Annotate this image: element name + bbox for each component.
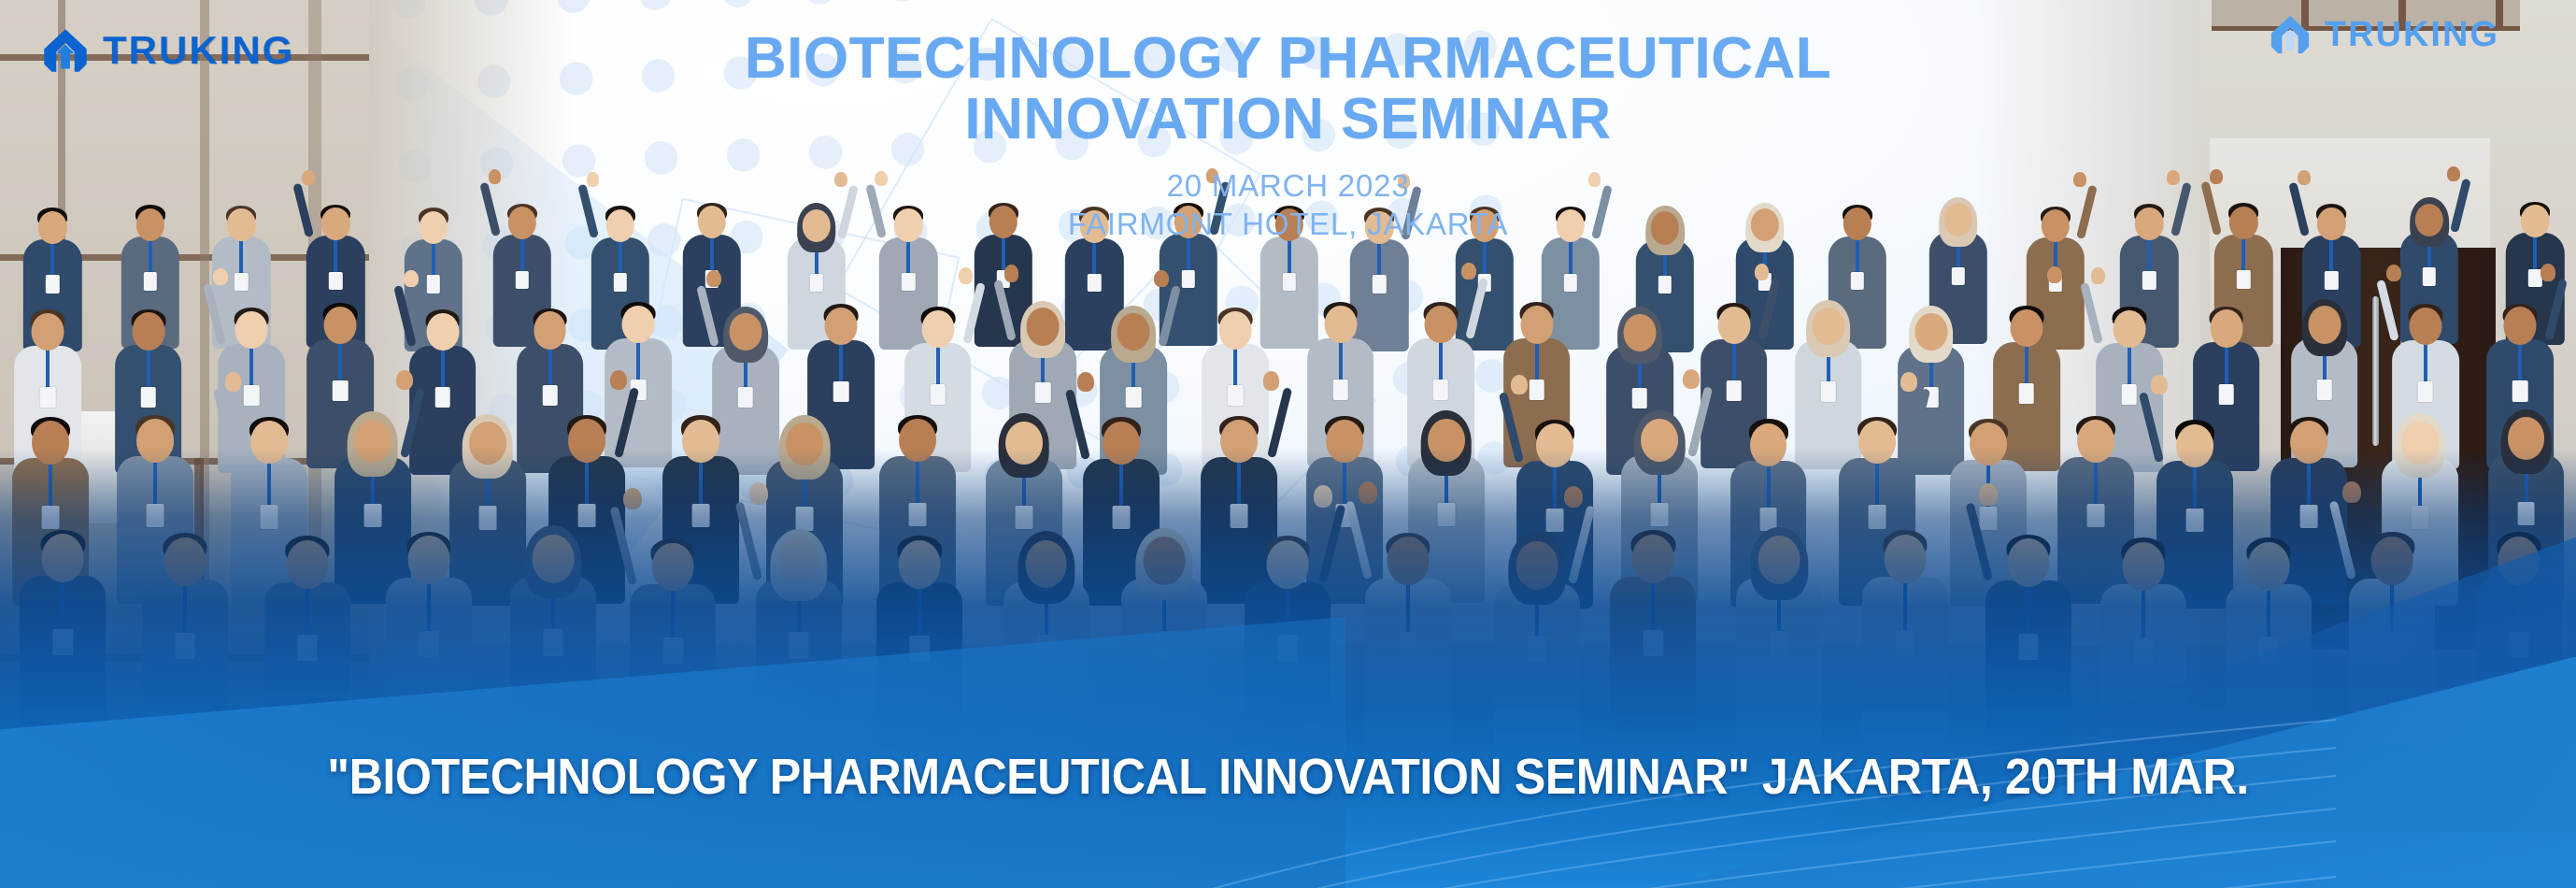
slide-brand-logo: TRUKING (2269, 13, 2499, 56)
name-badge (329, 272, 342, 290)
slide-brand-name: TRUKING (2325, 15, 2499, 55)
lanyard (1233, 348, 1237, 387)
attendee-head (2409, 308, 2441, 345)
lanyard (936, 347, 940, 386)
lanyard (1483, 241, 1487, 276)
lanyard (1569, 241, 1573, 276)
attendee-head (1623, 314, 1656, 351)
lanyard (2424, 343, 2427, 382)
lanyard (2329, 238, 2333, 273)
name-badge (810, 274, 823, 292)
slide-date: 20 MARCH 2023 (0, 168, 2576, 205)
slide-title-line-2: INNOVATION SEMINAR (0, 89, 2576, 150)
waving-hand (404, 270, 419, 287)
attendee-head (1914, 313, 1947, 351)
name-badge (738, 387, 754, 408)
name-badge (2237, 270, 2250, 288)
attendee-head (1117, 313, 1150, 351)
name-badge (2122, 384, 2138, 405)
name-badge (2512, 380, 2528, 401)
attendee-head (1717, 307, 1750, 344)
name-badge (427, 275, 440, 293)
waving-hand (959, 267, 974, 284)
attendee-head (1027, 308, 1060, 345)
name-badge (1851, 272, 1864, 290)
lanyard (2518, 343, 2522, 382)
waving-hand (213, 268, 228, 285)
name-badge (40, 387, 56, 408)
name-badge (2325, 271, 2338, 289)
lanyard (1535, 342, 1539, 381)
wall-brand-logo: TRUKING (41, 26, 294, 75)
name-badge (46, 275, 59, 293)
name-badge (1563, 274, 1576, 292)
attendee-head (2504, 307, 2537, 344)
name-badge (1726, 380, 1742, 401)
slide-text-block: BIOTECHNOLOGY PHARMACEUTICAL INNOVATION … (0, 28, 2576, 243)
name-badge (1373, 275, 1386, 293)
lanyard (619, 240, 622, 275)
lanyard (50, 242, 54, 277)
attendee-head (2010, 309, 2042, 347)
lanyard (548, 348, 552, 387)
name-badge (2019, 383, 2035, 404)
attendee-head (2113, 310, 2145, 348)
attendee-head (921, 310, 954, 348)
attendee-head (1219, 311, 1252, 349)
waving-hand (2047, 266, 2062, 283)
name-badge (1529, 380, 1544, 400)
lanyard (1288, 239, 1291, 274)
name-badge (1658, 276, 1672, 294)
lanyard (1856, 239, 1859, 274)
lanyard (1092, 241, 1096, 276)
waving-hand (610, 370, 627, 390)
lanyard (1339, 341, 1343, 380)
event-banner: BIOTECHNOLOGY PHARMACEUTICAL INNOVATION … (0, 0, 2576, 888)
name-badge (2218, 384, 2234, 405)
waving-hand (1461, 263, 1476, 279)
name-badge (333, 380, 349, 401)
attendee-head (132, 312, 164, 350)
attendee-head (235, 311, 268, 349)
lanyard (2147, 238, 2151, 273)
waving-hand (2151, 375, 2168, 394)
name-badge (2423, 267, 2436, 285)
lanyard (1732, 342, 1736, 381)
attendee-head (534, 311, 566, 349)
lanyard (334, 238, 337, 273)
waving-hand (1004, 265, 1019, 281)
name-badge (143, 272, 156, 290)
name-badge (1820, 381, 1836, 402)
waving-hand (2386, 265, 2401, 281)
name-badge (1332, 380, 1348, 400)
waving-hand (1263, 371, 1280, 391)
name-badge (1952, 267, 1965, 285)
lanyard (1439, 342, 1443, 381)
attendee-head (2210, 309, 2242, 347)
waving-hand (396, 370, 413, 390)
truking-house-arrow-icon (41, 26, 90, 75)
waving-hand (1077, 372, 1094, 392)
name-badge (1035, 382, 1051, 403)
attendee-head (324, 307, 357, 344)
lanyard (906, 240, 910, 275)
attendee-head (1424, 306, 1457, 343)
name-badge (235, 273, 248, 291)
slide-venue: FAIRMONT HOTEL, JAKARTA (0, 207, 2576, 243)
name-badge (902, 273, 915, 291)
lanyard (839, 343, 843, 382)
waving-hand (2540, 264, 2555, 280)
attendee-head (2308, 306, 2341, 343)
name-badge (930, 384, 946, 405)
lanyard (46, 349, 50, 388)
name-badge (2316, 380, 2332, 400)
lanyard (147, 349, 150, 388)
name-badge (1126, 387, 1142, 408)
attendee-head (1812, 308, 1844, 345)
waving-hand (1683, 369, 1700, 389)
attendee-head (622, 306, 655, 343)
name-badge (1181, 270, 1194, 288)
waving-hand (1154, 270, 1169, 287)
waving-hand (1511, 375, 1528, 394)
lanyard (441, 349, 445, 388)
lanyard (2025, 345, 2028, 384)
waving-hand (706, 270, 721, 287)
name-badge (1088, 274, 1101, 292)
name-badge (140, 387, 156, 408)
lanyard (636, 342, 640, 381)
waving-hand (2091, 267, 2106, 284)
name-badge (516, 271, 529, 289)
waving-hand (1755, 264, 1770, 280)
attendee-head (1324, 306, 1357, 343)
name-badge (1433, 380, 1449, 400)
lanyard (239, 240, 243, 275)
name-badge (1228, 385, 1244, 406)
lanyard (2128, 346, 2131, 385)
lanyard (149, 239, 152, 274)
lanyard (1377, 242, 1381, 277)
banner-caption: "BIOTECHNOLOGY PHARMACEUTICAL INNOVATION… (90, 748, 2485, 806)
attendee-head (729, 313, 761, 351)
name-badge (2418, 381, 2434, 402)
lanyard (432, 242, 435, 277)
name-badge (542, 385, 558, 406)
name-badge (833, 381, 849, 402)
waving-hand (225, 372, 242, 392)
attendee-head (1520, 306, 1553, 343)
name-badge (244, 385, 260, 406)
attendee-head (426, 313, 459, 351)
waving-hand (1900, 372, 1917, 392)
truking-house-arrow-icon (2269, 13, 2312, 56)
attendee-head (32, 313, 64, 351)
lanyard (2225, 346, 2228, 385)
attendee-head (825, 308, 858, 345)
lanyard (249, 347, 253, 386)
wall-brand-name: TRUKING (103, 28, 294, 73)
slide-title-line-1: BIOTECHNOLOGY PHARMACEUTICAL (0, 28, 2576, 89)
name-badge (613, 273, 626, 291)
name-badge (1283, 273, 1296, 291)
lanyard (338, 342, 342, 381)
name-badge (1632, 388, 1648, 408)
name-badge (434, 387, 450, 408)
name-badge (2142, 271, 2156, 289)
